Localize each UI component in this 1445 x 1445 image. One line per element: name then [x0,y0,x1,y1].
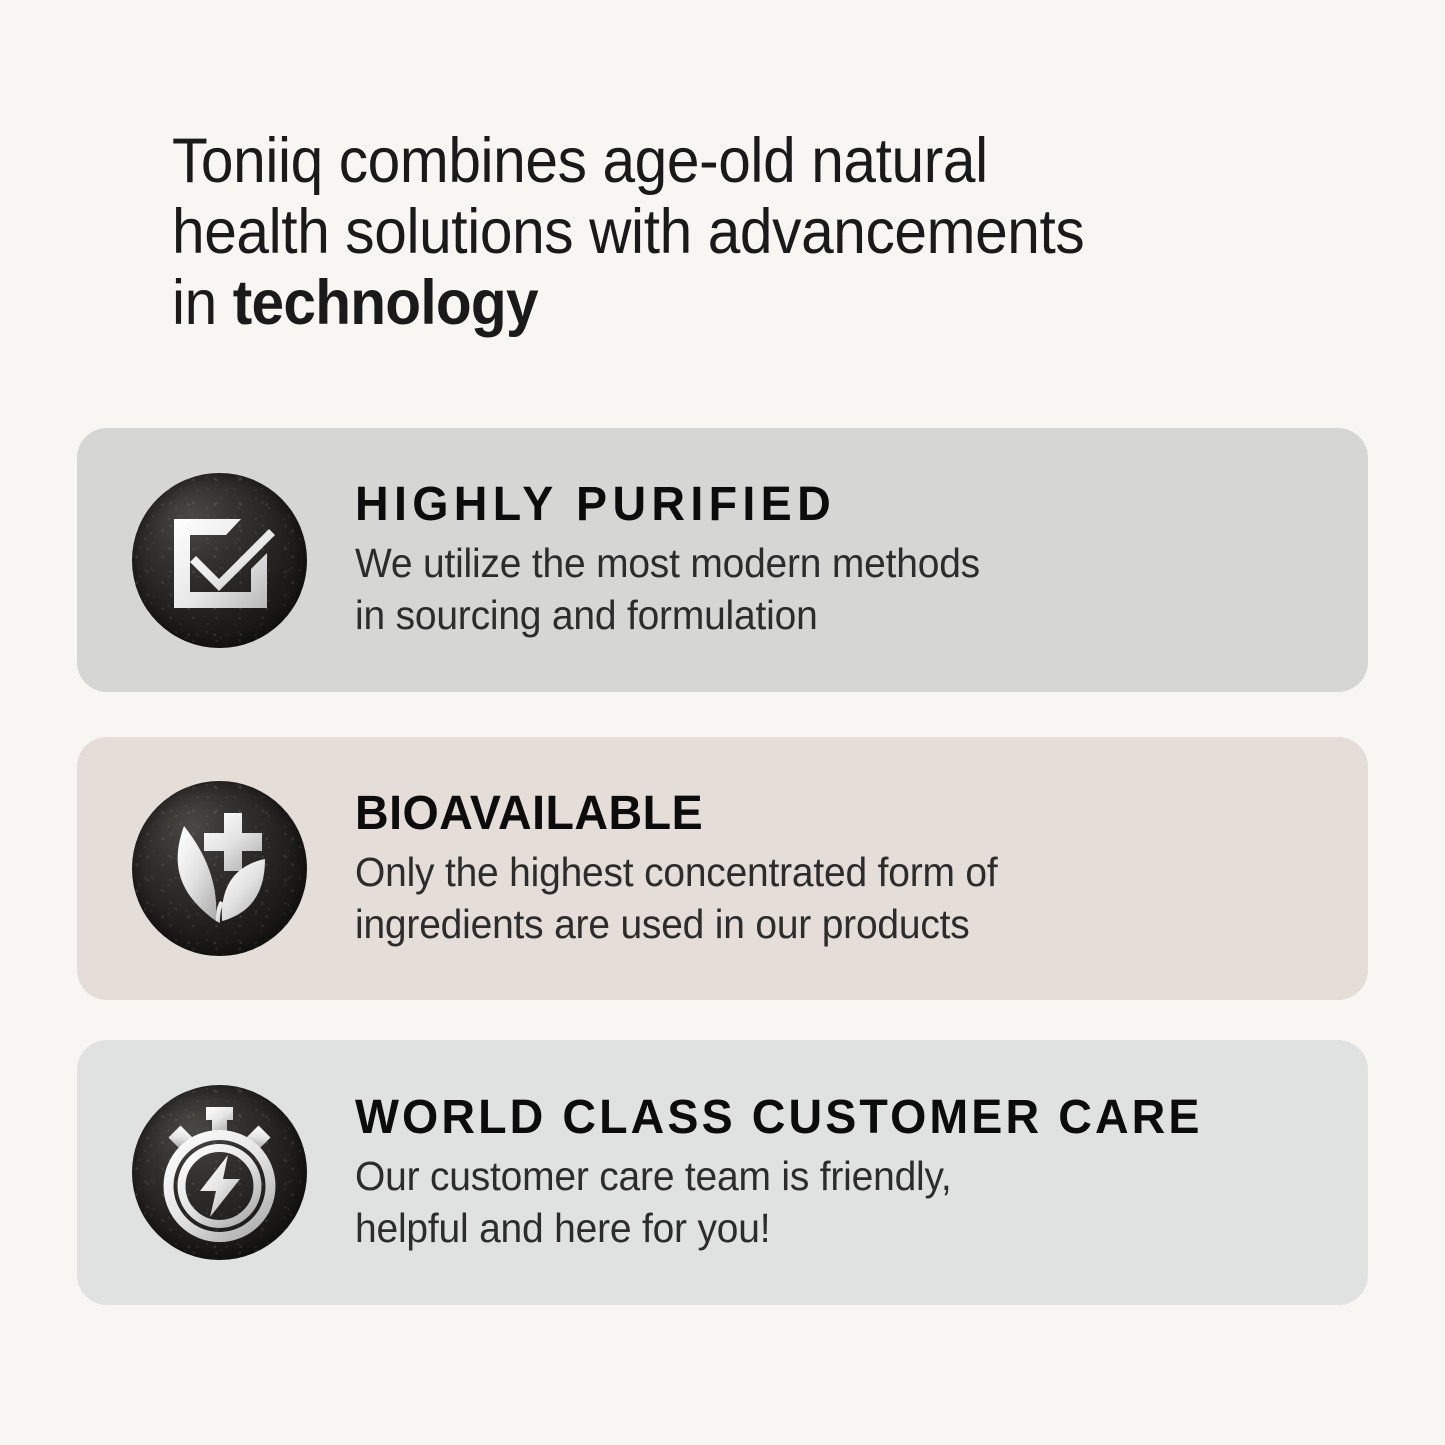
description-line-1: We utilize the most modern methods [355,537,1279,589]
infographic-page: Toniiq combines age-old natural health s… [0,0,1445,1445]
feature-card-description: Only the highest concentrated form of in… [355,846,1279,950]
feature-card-text: BIOAVAILABLE Only the highest concentrat… [355,788,1368,950]
feature-card-description: Our customer care team is friendly, help… [355,1150,1279,1254]
leaf-plus-icon [132,781,307,956]
headline-line-2: health solutions with advancements [172,197,1084,267]
headline-line-3-prefix: in [172,268,233,338]
feature-card-description: We utilize the most modern methods in so… [355,537,1279,641]
checkbox-check-glyph [132,473,307,648]
feature-card-title: HIGHLY PURIFIED [355,479,1299,531]
description-line-2: in sourcing and formulation [355,589,1279,641]
description-line-1: Our customer care team is friendly, [355,1150,1279,1202]
description-line-2: ingredients are used in our products [355,898,1279,950]
feature-card-customer-care: WORLD CLASS CUSTOMER CARE Our customer c… [77,1040,1368,1305]
headline-line-1: Toniiq combines age-old natural [172,126,988,196]
stopwatch-bolt-icon [132,1085,307,1260]
feature-card-title: WORLD CLASS CUSTOMER CARE [355,1092,1299,1144]
feature-card-title: BIOAVAILABLE [355,788,1299,840]
headline-emphasis: technology [233,268,538,338]
feature-card-text: WORLD CLASS CUSTOMER CARE Our customer c… [355,1092,1368,1254]
description-line-1: Only the highest concentrated form of [355,846,1279,898]
description-line-2: helpful and here for you! [355,1202,1279,1254]
page-headline: Toniiq combines age-old natural health s… [172,126,1111,339]
feature-card-highly-purified: HIGHLY PURIFIED We utilize the most mode… [77,428,1368,692]
leaf-plus-glyph [132,781,307,956]
feature-card-bioavailable: BIOAVAILABLE Only the highest concentrat… [77,737,1368,1000]
checkbox-check-icon [132,473,307,648]
feature-card-list: HIGHLY PURIFIED We utilize the most mode… [77,428,1368,1305]
feature-card-text: HIGHLY PURIFIED We utilize the most mode… [355,479,1368,641]
stopwatch-bolt-glyph [132,1085,307,1260]
